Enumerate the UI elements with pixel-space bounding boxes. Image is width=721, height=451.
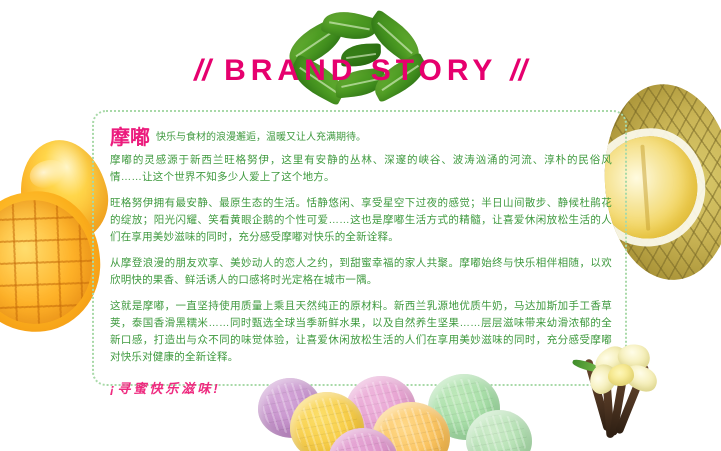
story-paragraph: 从摩登浪漫的朋友欢享、美妙动人的恋人之约，到甜蜜幸福的家人共聚。摩嘟始终与快乐相… — [110, 255, 612, 289]
brand-story-page: // BRAND STORY // 摩嘟快乐与食材的浪漫邂逅，温暖又让人充满期待… — [0, 0, 721, 451]
story-content: 摩嘟快乐与食材的浪漫邂逅，温暖又让人充满期待。 摩嘟的灵感源于新西兰旺格努伊，这… — [110, 128, 612, 397]
story-paragraph: 旺格努伊拥有最安静、最原生态的生活。恬静悠闲、享受星空下过夜的感觉；半日山间散步… — [110, 195, 612, 246]
ice-cream-scoops-decoration — [250, 382, 500, 451]
vanilla-petal-icon — [608, 364, 634, 386]
brand-lead-text: 快乐与食材的浪漫邂逅，温暖又让人充满期待。 — [156, 131, 366, 145]
vanilla-flower-decoration — [566, 342, 686, 442]
brand-logo: 摩嘟 — [110, 128, 150, 148]
brand-lead-line: 摩嘟快乐与食材的浪漫邂逅，温暖又让人充满期待。 — [110, 128, 612, 148]
title-slash-right: // — [510, 54, 527, 87]
page-title: // BRAND STORY // — [0, 54, 721, 88]
story-paragraph: 这就是摩嘟，一直坚持使用质量上乘且天然纯正的原材料。新西兰乳源地优质牛奶，马达加… — [110, 298, 612, 366]
story-paragraph: 摩嘟的灵感源于新西兰旺格努伊，这里有安静的丛林、深邃的峡谷、波涛汹涌的河流、淳朴… — [110, 152, 612, 186]
title-text: BRAND STORY — [224, 54, 497, 87]
title-slash-left: // — [194, 54, 211, 87]
